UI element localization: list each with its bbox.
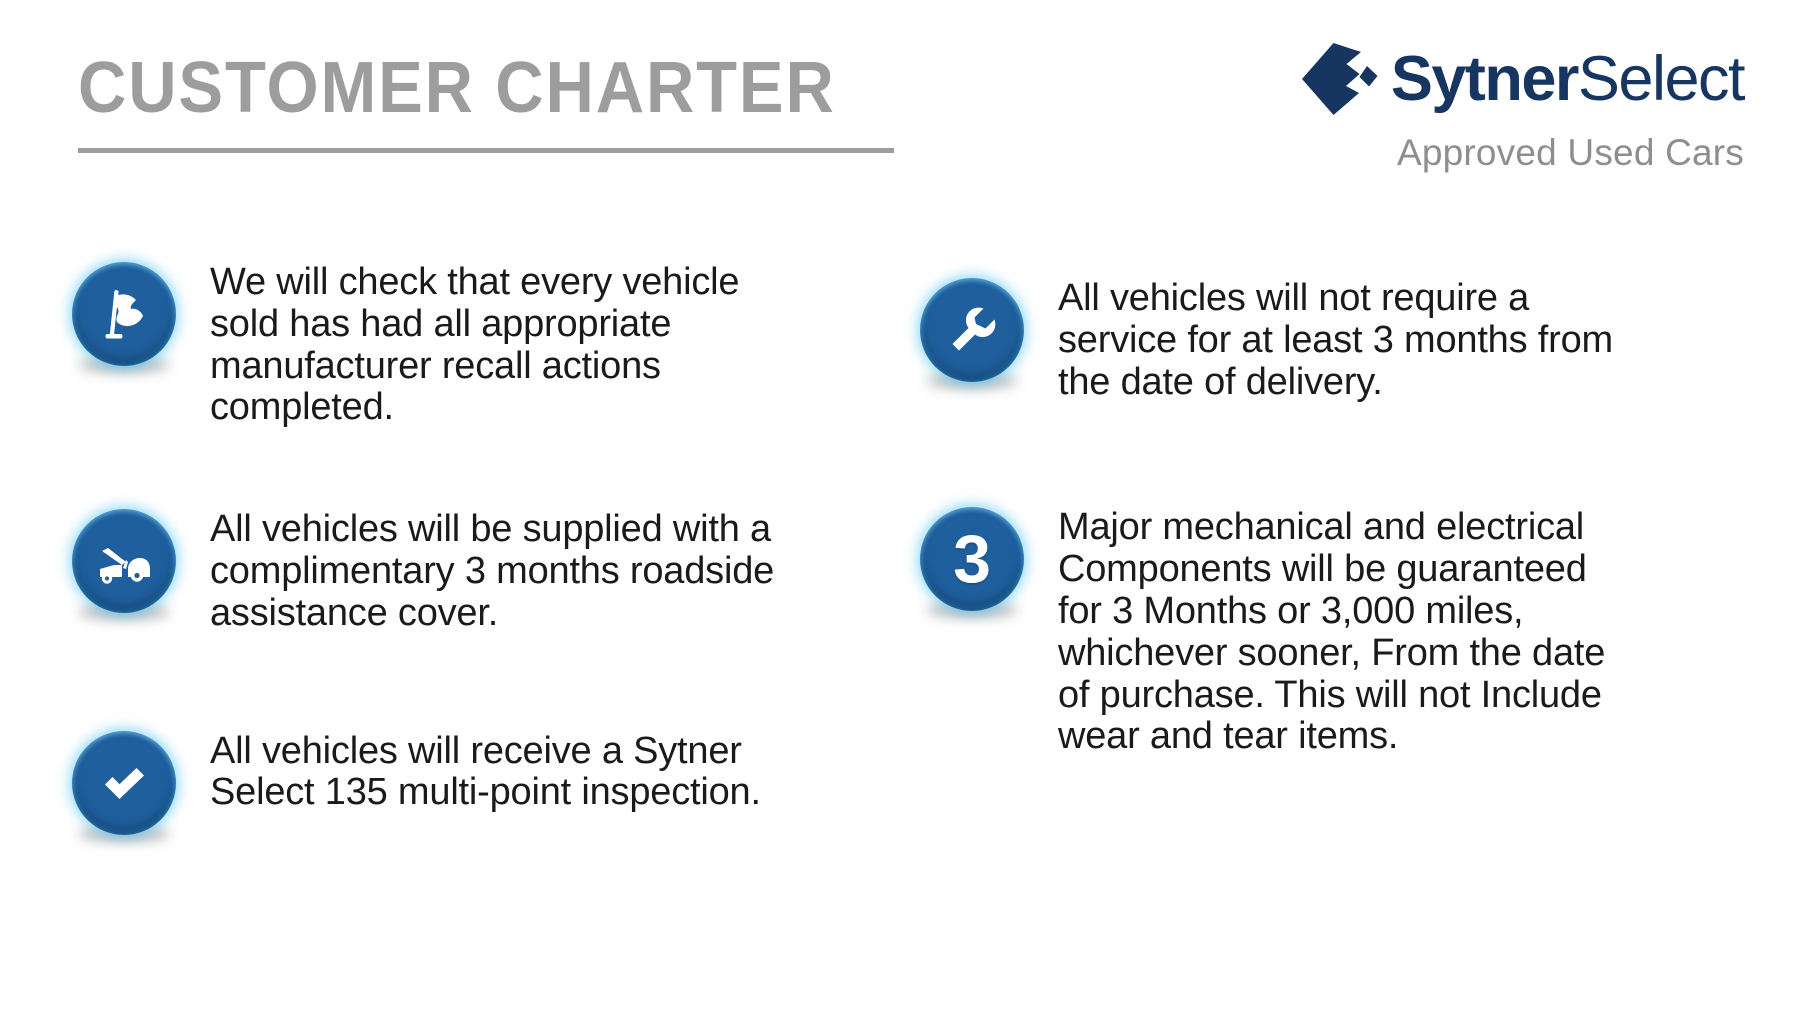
check-mark-icon — [72, 731, 176, 835]
flag-icon — [72, 262, 176, 366]
page-header: CUSTOMER CHARTER SytnerSelect Approved U… — [0, 0, 1800, 200]
sytner-select-logo: SytnerSelect Approved Used Cars — [1274, 40, 1744, 170]
badge-circle: 3 — [920, 507, 1024, 611]
badge-circle — [72, 262, 176, 366]
sytner-diamond-mark-icon — [1299, 40, 1385, 118]
number-three-glyph: 3 — [953, 525, 991, 593]
badge-circle — [72, 509, 176, 613]
logo-wordmark: SytnerSelect — [1391, 48, 1744, 111]
charter-right-column: All vehicles will not require a service … — [0, 262, 1800, 835]
logo-word-sytner: Sytner — [1391, 44, 1578, 114]
logo-word-select: Select — [1578, 44, 1744, 114]
charter-item-text: All vehicles will not require a service … — [1058, 278, 1613, 403]
charter-item-component-guarantee: 3 Major mechanical and electrical Compon… — [920, 507, 1760, 758]
tow-truck-icon — [72, 509, 176, 613]
charter-item-text: Major mechanical and electrical Componen… — [1058, 507, 1605, 758]
page-title: CUSTOMER CHARTER — [78, 52, 836, 124]
charter-item-service-interval: All vehicles will not require a service … — [920, 278, 1760, 403]
title-underline-rule — [78, 148, 894, 153]
wrench-icon — [920, 278, 1024, 382]
logo-tagline: Approved Used Cars — [1274, 134, 1744, 171]
charter-content: We will check that every vehicle sold ha… — [0, 262, 1800, 835]
badge-circle — [72, 731, 176, 835]
number-three-icon: 3 — [920, 507, 1024, 611]
badge-circle — [920, 278, 1024, 382]
